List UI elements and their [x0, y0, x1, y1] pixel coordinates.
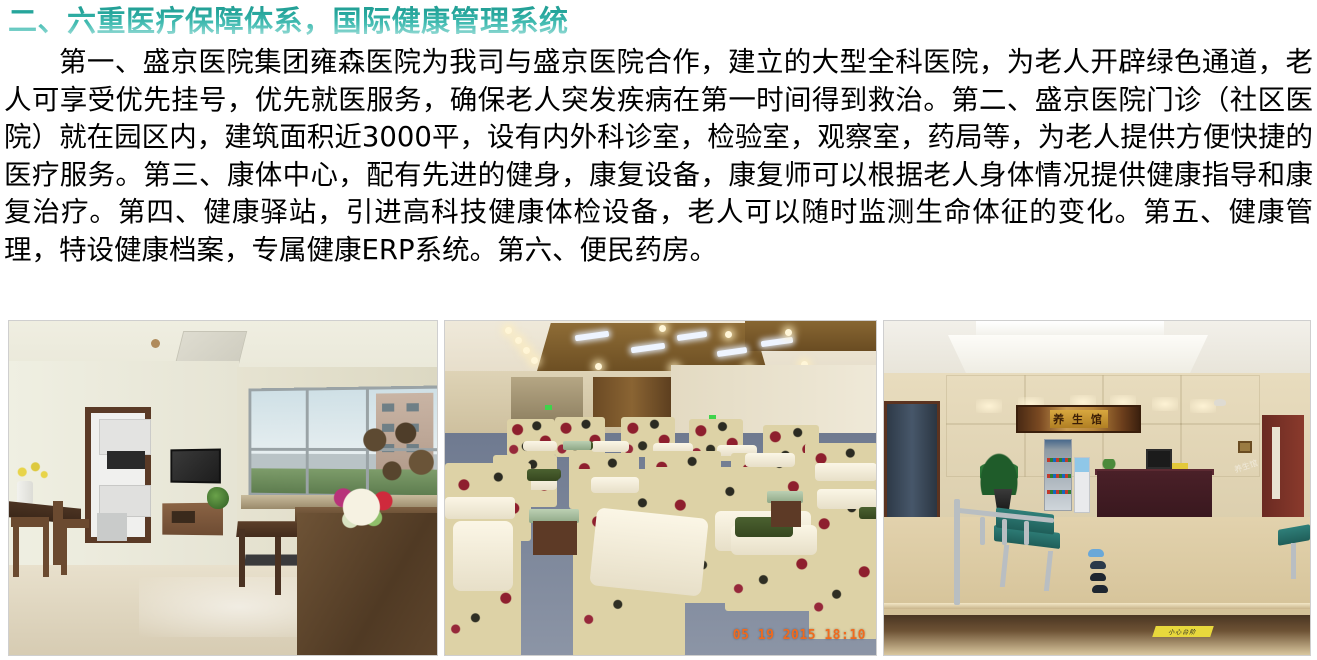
wall-picture-frame: [1238, 441, 1252, 453]
folded-towel: [527, 469, 559, 481]
side-table: [563, 441, 591, 450]
range-hood: [107, 451, 145, 469]
slipper: [1092, 585, 1108, 593]
dark-marble-border: [884, 615, 1310, 655]
page-title: 二、六重医疗保障体系，国际健康管理系统: [8, 2, 1308, 42]
wall-mounted-tv: [170, 449, 220, 484]
photo-recliner-hall: 05 19 2015 18:10: [444, 320, 877, 656]
skylight: [976, 321, 1164, 336]
recliner: [507, 419, 555, 457]
kitchen-upper-cabinet: [99, 419, 151, 455]
step-edge: [884, 603, 1310, 609]
security-camera-icon: [1214, 399, 1226, 406]
ceiling-light-panel: [175, 331, 247, 365]
photo-wellness-lobby: 养 生 馆: [883, 320, 1311, 656]
glass-entry-door: [884, 401, 940, 531]
console-opening: [172, 511, 195, 523]
folded-towel: [859, 507, 877, 519]
body-paragraph: 第一、盛京医院集团雍森医院为我司与盛京医院合作，建立的大型全科医院，为老人开辟绿…: [4, 44, 1313, 269]
slipper: [1090, 573, 1106, 581]
kitchen-doorway: [85, 407, 151, 543]
photo-apartment-living-room: [8, 320, 438, 656]
palm-plant: [980, 453, 1018, 495]
reception-monitor: [1146, 449, 1172, 469]
wellness-hall-sign: 养 生 馆: [1016, 405, 1141, 433]
floor-caution-sticker: 小心台阶: [1152, 626, 1214, 637]
camera-timestamp: 05 19 2015 18:10: [733, 628, 866, 643]
smoke-detector-icon: [151, 339, 160, 348]
slipper: [1090, 561, 1106, 569]
potted-plant: [207, 487, 229, 509]
slipper: [1088, 549, 1104, 557]
water-dispenser: [1074, 457, 1090, 513]
sign-text: 养 生 馆: [1050, 410, 1108, 428]
slide-root: 二、六重医疗保障体系，国际健康管理系统 二、六重医疗保障体系，国际健康管理系统 …: [0, 0, 1317, 660]
beverage-fridge: [1044, 439, 1072, 511]
exit-sign-icon: [545, 405, 552, 410]
photo-strip: 05 19 2015 18:10 养 生 馆: [8, 320, 1311, 656]
flower-bouquet: [329, 473, 401, 535]
refrigerator: [97, 513, 127, 541]
